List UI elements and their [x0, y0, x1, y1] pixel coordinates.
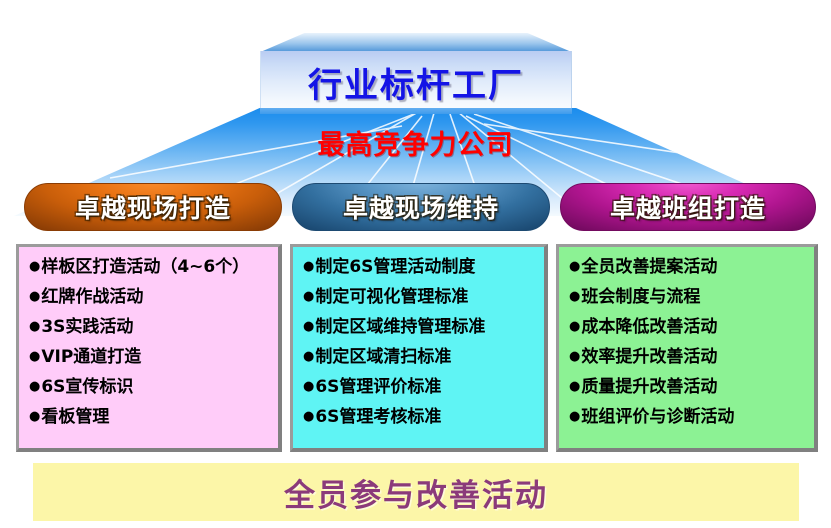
list-item: ●制定可视化管理标准 [303, 289, 536, 306]
bullet-icon: ● [29, 259, 40, 274]
bullet-icon: ● [29, 289, 40, 304]
bullet-icon: ● [303, 379, 314, 394]
foundation-label: 全员参与改善活动 [284, 470, 548, 515]
list-item-label: 红牌作战活动 [41, 287, 143, 307]
pillar-header-2[interactable]: 卓越现场维持 [292, 183, 550, 231]
subtitle-text: 最高竞争力公司 [14, 132, 817, 159]
list-item: ●红牌作战活动 [29, 289, 270, 306]
list-item: ●班会制度与流程 [569, 289, 806, 306]
bullet-icon: ● [29, 349, 40, 364]
list-item: ●3S实践活动 [29, 319, 270, 336]
list-item-label: 看板管理 [41, 407, 109, 427]
list-item-label: 效率提升改善活动 [581, 347, 717, 367]
list-item: ●制定区域清扫标准 [303, 349, 536, 366]
list-item-label: 班组评价与诊断活动 [581, 407, 734, 427]
list-item-label: 样板区打造活动（4~6个） [41, 257, 249, 277]
list-item-label: 6S管理评价标准 [315, 377, 441, 397]
list-item: ●全员改善提案活动 [569, 259, 806, 276]
pillar-panel-2: ●制定6S管理活动制度 ●制定可视化管理标准 ●制定区域维持管理标准 ●制定区域… [290, 244, 548, 452]
bullet-icon: ● [303, 259, 314, 274]
list-item: ●VIP通道打造 [29, 349, 270, 366]
list-item-label: 制定可视化管理标准 [315, 287, 468, 307]
top-title-box: 行业标杆工厂 [247, 33, 585, 113]
bullet-icon: ● [569, 289, 580, 304]
bullet-icon: ● [303, 409, 314, 424]
list-item-label: VIP通道打造 [41, 347, 141, 367]
list-item-label: 成本降低改善活动 [581, 317, 717, 337]
pillar-panel-1: ●样板区打造活动（4~6个） ●红牌作战活动 ●3S实践活动 ●VIP通道打造 … [16, 244, 282, 452]
list-item: ●班组评价与诊断活动 [569, 409, 806, 426]
bullet-icon: ● [303, 319, 314, 334]
list-item-label: 质量提升改善活动 [581, 377, 717, 397]
list-item: ●看板管理 [29, 409, 270, 426]
list-item: ●效率提升改善活动 [569, 349, 806, 366]
list-item-label: 制定区域清扫标准 [315, 347, 451, 367]
bullet-icon: ● [569, 349, 580, 364]
list-item: ●6S宣传标识 [29, 379, 270, 396]
list-item: ●成本降低改善活动 [569, 319, 806, 336]
foundation-bar: 全员参与改善活动 [33, 463, 799, 521]
pillar-header-3[interactable]: 卓越班组打造 [560, 183, 816, 231]
list-item: ●样板区打造活动（4~6个） [29, 259, 270, 276]
bullet-icon: ● [569, 379, 580, 394]
list-item: ●6S管理评价标准 [303, 379, 536, 396]
diagram-canvas: 最高竞争力公司 行业标杆工厂 卓越现场打造 卓越现场维持 卓越班组打造 ●样板区… [0, 0, 831, 528]
list-item-label: 制定6S管理活动制度 [315, 257, 475, 277]
bullet-icon: ● [303, 349, 314, 364]
bullet-icon: ● [569, 259, 580, 274]
bullet-icon: ● [303, 289, 314, 304]
list-item-label: 班会制度与流程 [581, 287, 700, 307]
pillar-list-3: ●全员改善提案活动 ●班会制度与流程 ●成本降低改善活动 ●效率提升改善活动 ●… [569, 259, 806, 426]
pillar-header-1[interactable]: 卓越现场打造 [24, 183, 282, 231]
pillar-list-1: ●样板区打造活动（4~6个） ●红牌作战活动 ●3S实践活动 ●VIP通道打造 … [29, 259, 270, 426]
bullet-icon: ● [29, 319, 40, 334]
top-box-lid-face [247, 33, 585, 52]
list-item: ●6S管理考核标准 [303, 409, 536, 426]
pillar-list-2: ●制定6S管理活动制度 ●制定可视化管理标准 ●制定区域维持管理标准 ●制定区域… [303, 259, 536, 426]
list-item-label: 3S实践活动 [41, 317, 133, 337]
list-item-label: 6S管理考核标准 [315, 407, 441, 427]
page-title: 行业标杆工厂 [260, 51, 572, 113]
list-item-label: 制定区域维持管理标准 [315, 317, 485, 337]
list-item-label: 6S宣传标识 [41, 377, 133, 397]
bullet-icon: ● [29, 409, 40, 424]
list-item-label: 全员改善提案活动 [581, 257, 717, 277]
bullet-icon: ● [569, 319, 580, 334]
bullet-icon: ● [569, 409, 580, 424]
bullet-icon: ● [29, 379, 40, 394]
list-item: ●质量提升改善活动 [569, 379, 806, 396]
list-item: ●制定6S管理活动制度 [303, 259, 536, 276]
list-item: ●制定区域维持管理标准 [303, 319, 536, 336]
pillar-panel-3: ●全员改善提案活动 ●班会制度与流程 ●成本降低改善活动 ●效率提升改善活动 ●… [556, 244, 818, 452]
